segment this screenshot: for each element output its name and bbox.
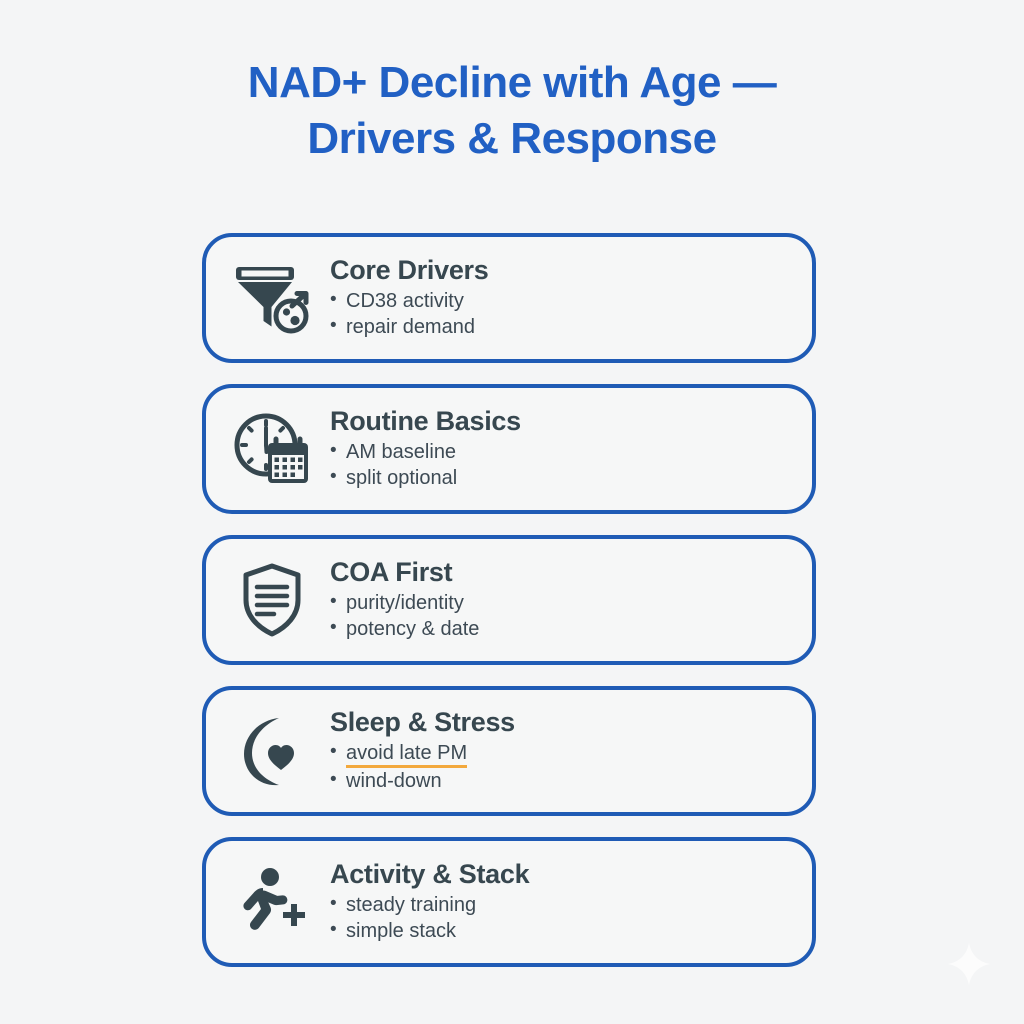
card-coa-first[interactable]: COA First purity/identity potency & date <box>202 535 816 665</box>
card-bullets: steady training simple stack <box>330 892 529 944</box>
card-title: COA First <box>330 556 479 588</box>
bullet-item: steady training <box>330 892 529 918</box>
card-title: Routine Basics <box>330 405 521 437</box>
clock-calendar-icon <box>224 403 320 495</box>
card-body: Activity & Stack steady training simple … <box>320 858 529 946</box>
card-body: COA First purity/identity potency & date <box>320 556 479 644</box>
bullet-item: wind-down <box>330 768 515 794</box>
bullet-item: purity/identity <box>330 590 479 616</box>
card-bullets: AM baseline split optional <box>330 439 521 491</box>
bullet-item: split optional <box>330 465 521 491</box>
card-bullets: avoid late PM wind-down <box>330 740 515 794</box>
page-title-line-1: NAD+ Decline with Age — <box>192 55 832 111</box>
card-routine-basics[interactable]: Routine Basics AM baseline split optiona… <box>202 384 816 514</box>
card-sleep-stress[interactable]: Sleep & Stress avoid late PM wind-down <box>202 686 816 816</box>
card-title: Core Drivers <box>330 254 488 286</box>
card-title: Sleep & Stress <box>330 706 515 738</box>
card-body: Routine Basics AM baseline split optiona… <box>320 405 521 493</box>
shield-document-icon <box>224 554 320 646</box>
card-title: Activity & Stack <box>330 858 529 890</box>
card-body: Sleep & Stress avoid late PM wind-down <box>320 706 515 796</box>
card-list: Core Drivers CD38 activity repair demand <box>202 233 816 988</box>
bullet-item: repair demand <box>330 314 488 340</box>
sparkle-icon <box>946 942 992 988</box>
card-activity-stack[interactable]: Activity & Stack steady training simple … <box>202 837 816 967</box>
card-bullets: CD38 activity repair demand <box>330 288 488 340</box>
moon-heart-icon <box>224 705 320 797</box>
card-bullets: purity/identity potency & date <box>330 590 479 642</box>
card-body: Core Drivers CD38 activity repair demand <box>320 254 488 342</box>
bullet-item: simple stack <box>330 918 529 944</box>
runner-plus-icon <box>224 856 320 948</box>
funnel-molecule-icon <box>224 252 320 344</box>
bullet-item-highlighted: avoid late PM <box>330 740 515 768</box>
bullet-item: CD38 activity <box>330 288 488 314</box>
bullet-item: AM baseline <box>330 439 521 465</box>
card-core-drivers[interactable]: Core Drivers CD38 activity repair demand <box>202 233 816 363</box>
page-title-line-2: Drivers & Response <box>192 111 832 167</box>
page-title: NAD+ Decline with Age — Drivers & Respon… <box>192 0 832 167</box>
bullet-item: potency & date <box>330 616 479 642</box>
